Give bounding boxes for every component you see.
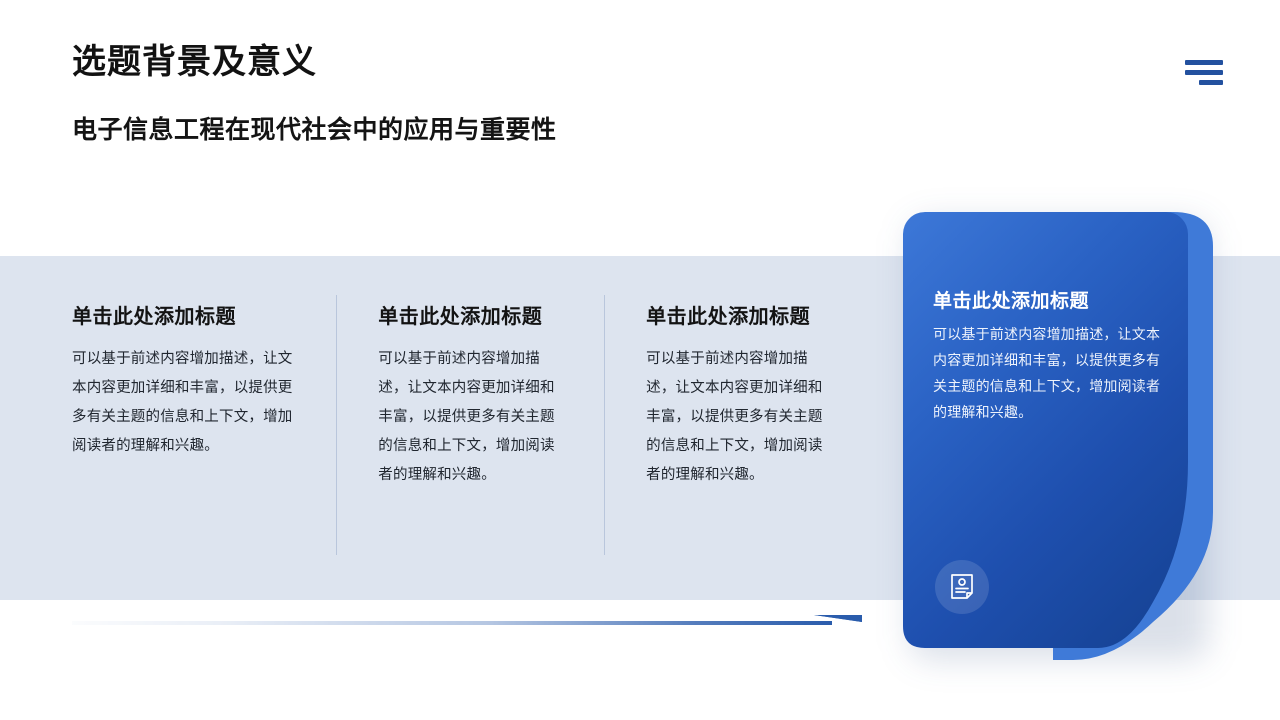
arrow-shaft — [72, 621, 832, 625]
id-document-icon[interactable] — [935, 560, 989, 614]
column-title: 单击此处添加标题 — [646, 300, 832, 329]
feature-column-3[interactable]: 单击此处添加标题 可以基于前述内容增加描述，让文本内容更加详细和丰富，以提供更多… — [604, 300, 872, 570]
hamburger-menu-icon[interactable] — [1183, 58, 1223, 88]
menu-bar-middle — [1185, 70, 1223, 75]
column-body: 可以基于前述内容增加描述，让文本内容更加详细和丰富，以提供更多有关主题的信息和上… — [378, 345, 564, 490]
card-body-text: 可以基于前述内容增加描述，让文本内容更加详细和丰富，以提供更多有关主题的信息和上… — [933, 322, 1167, 426]
feature-column-1[interactable]: 单击此处添加标题 可以基于前述内容增加描述，让文本内容更加详细和丰富，以提供更多… — [72, 300, 336, 570]
slide-canvas: 选题背景及意义 电子信息工程在现代社会中的应用与重要性 单击此处添加标题 可以基… — [0, 0, 1280, 720]
feature-columns: 单击此处添加标题 可以基于前述内容增加描述，让文本内容更加详细和丰富，以提供更多… — [72, 300, 872, 570]
menu-bar-top — [1185, 60, 1223, 65]
feature-card[interactable]: 单击此处添加标题 可以基于前述内容增加描述，让文本内容更加详细和丰富，以提供更多… — [903, 212, 1213, 660]
page-subtitle: 电子信息工程在现代社会中的应用与重要性 — [72, 115, 972, 146]
arrow-head-icon — [814, 615, 862, 629]
column-title: 单击此处添加标题 — [378, 300, 564, 329]
card-surface: 单击此处添加标题 可以基于前述内容增加描述，让文本内容更加详细和丰富，以提供更多… — [903, 212, 1188, 660]
column-body: 可以基于前述内容增加描述，让文本内容更加详细和丰富，以提供更多有关主题的信息和上… — [646, 345, 832, 490]
page-title: 选题背景及意义 — [72, 42, 972, 83]
slide-header: 选题背景及意义 电子信息工程在现代社会中的应用与重要性 — [72, 42, 972, 146]
menu-bar-bottom — [1199, 80, 1223, 85]
id-document-glyph — [950, 574, 974, 600]
feature-column-2[interactable]: 单击此处添加标题 可以基于前述内容增加描述，让文本内容更加详细和丰富，以提供更多… — [336, 300, 604, 570]
column-body: 可以基于前述内容增加描述，让文本内容更加详细和丰富，以提供更多有关主题的信息和上… — [72, 345, 296, 461]
progress-arrow — [72, 612, 862, 636]
card-title: 单击此处添加标题 — [933, 286, 1089, 313]
column-title: 单击此处添加标题 — [72, 300, 296, 329]
